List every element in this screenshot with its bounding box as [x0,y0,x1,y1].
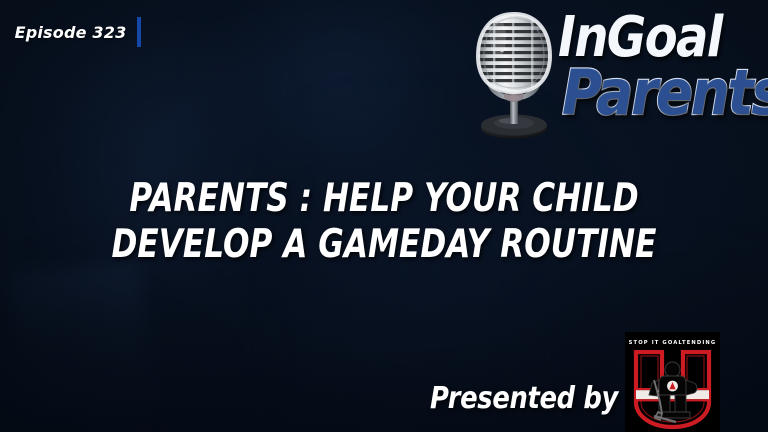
episode-title-card: Episode 323 [0,0,768,432]
goalie-u-crest-icon [632,350,713,430]
episode-title-line-1: PARENTS : HELP YOUR CHILD [77,176,691,222]
episode-badge-label: Episode 323 [15,23,127,42]
episode-badge-edge [137,17,141,47]
brand-wordmark-parents: Parents [562,62,768,124]
episode-title: PARENTS : HELP YOUR CHILD DEVELOP A GAME… [0,176,768,267]
brand-lockup: InGoal Parents [466,4,766,144]
episode-title-line-2: DEVELOP A GAMEDAY ROUTINE [77,222,691,268]
episode-badge: Episode 323 [0,17,141,47]
presented-by-label: Presented by [430,381,618,416]
retro-microphone-icon [468,8,562,140]
brand-wordmark: InGoal Parents [558,10,766,140]
sponsor-name-label: STOP IT GOALTENDING [625,340,720,346]
sponsor-logo: STOP IT GOALTENDING [625,332,720,432]
